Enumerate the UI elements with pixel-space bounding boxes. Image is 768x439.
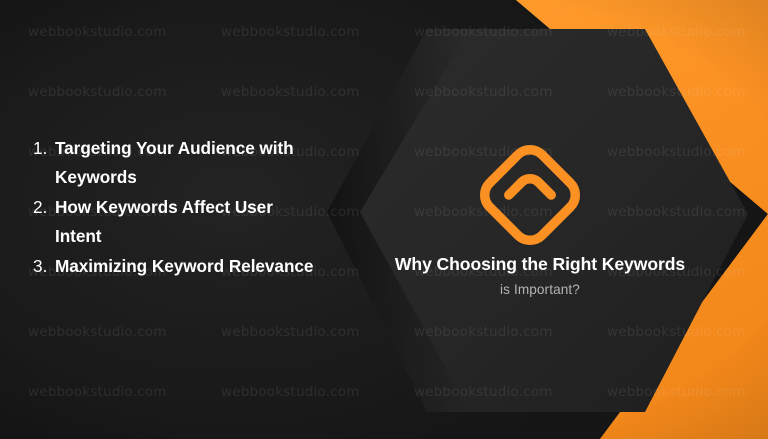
list-item: Maximizing Keyword Relevance <box>52 252 316 281</box>
topics-list: Targeting Your Audience with Keywords Ho… <box>26 134 316 282</box>
title-block: Why Choosing the Right Keywords is Impor… <box>330 253 750 300</box>
list-item: Targeting Your Audience with Keywords <box>52 134 316 192</box>
page-subtitle: is Important? <box>330 280 750 300</box>
page-title: Why Choosing the Right Keywords <box>330 253 750 275</box>
list-item: How Keywords Affect User Intent <box>52 193 316 251</box>
topics-ordered-list: Targeting Your Audience with Keywords Ho… <box>26 134 316 281</box>
infographic-canvas: webbookstudio.comwebbookstudio.comwebboo… <box>0 0 768 439</box>
webbookstudio-diamond-logo-icon <box>477 142 583 248</box>
